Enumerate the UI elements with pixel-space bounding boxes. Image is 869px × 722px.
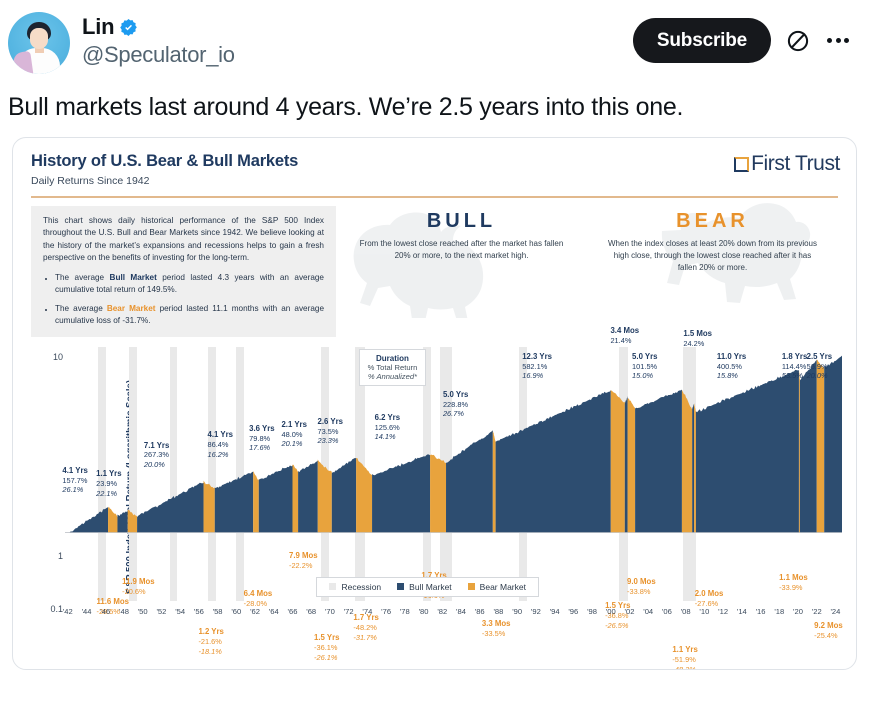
bull-market-segment [298,460,318,532]
bull-segment-label: 7.1 Yrs267.3%20.0% [144,441,169,470]
legend-item-recession: Recession [329,582,381,592]
bear-market-segment [253,471,259,532]
blurb-paragraph: This chart shows daily historical perfor… [43,215,324,265]
bull-segment-label: 4.1 Yrs157.7%26.1% [62,466,87,495]
bull-market-segment [137,482,203,531]
x-tick: '60 [231,607,241,616]
list-item: The average Bull Market period lasted 4.… [55,272,324,297]
bear-segment-label: 11.9 Mos-20.6% [122,577,155,596]
x-tick: '16 [756,607,766,616]
tweet-header: Lin @Speculator_io Subscribe [0,0,869,80]
legend-item-bear: Bear Market [468,582,526,592]
legend-label: Recession [341,582,381,592]
bear-definition: BEAR When the index closes at least 20% … [608,210,818,337]
x-tick: '52 [156,607,166,616]
x-tick: '84 [456,607,466,616]
bull-segment-label: 6.2 Yrs125.6%14.1% [375,413,400,442]
bull-segment-label: 5.0 Yrs101.5%15.0% [632,352,657,381]
bull-segment-label: 1.1 Yrs23.9%22.1% [96,469,121,498]
duration-key-line1: Duration [368,354,418,363]
y-tick: 0.1 [50,604,63,614]
account-handle[interactable]: @Speculator_io [82,42,235,68]
tweet-text: Bull markets last around 4 years. We’re … [0,80,869,137]
x-axis-ticks: '42'44'46'48'50'52'54'56'58'60'62'64'66'… [65,607,842,625]
y-tick: 1 [58,551,63,561]
bull-segment-label: 12.3 Yrs582.1%16.9% [522,352,552,381]
bull-segment-label: 4.1 Yrs86.4%16.2% [208,430,233,459]
bull-market-segment [259,465,293,532]
y-axis-ticks: 1010.1 [39,347,63,627]
x-tick: '82 [437,607,447,616]
description-blurb: This chart shows daily historical perfor… [31,206,336,337]
bull-market-segment [372,454,430,532]
brand-name: First Trust [751,152,840,176]
x-tick: '64 [269,607,279,616]
duration-key: Duration % Total Return % Annualized* [359,349,427,386]
bear-text: When the index closes at least 20% down … [608,238,818,274]
first-trust-square-icon [734,157,749,172]
x-tick: '48 [119,607,129,616]
y-tick: 10 [53,352,63,362]
bear-segment-label: 1.1 Yrs-51.9%-48.2% [672,645,697,670]
more-options-icon[interactable] [825,32,851,49]
avatar-face [30,28,48,49]
x-tick: '90 [512,607,522,616]
bull-segment-label: 3.6 Yrs79.8%17.6% [249,424,274,453]
bear-market-segment [611,390,625,532]
x-tick: '50 [138,607,148,616]
bull-market-segment [446,430,493,532]
legend-swatch-recession [329,583,336,590]
infographic-header: History of U.S. Bear & Bull Markets Dail… [13,138,856,198]
x-tick: '76 [381,607,391,616]
infographic-card[interactable]: History of U.S. Bear & Bull Markets Dail… [12,137,857,670]
x-tick: '12 [718,607,728,616]
bear-market-segment [799,370,800,532]
x-tick: '18 [774,607,784,616]
x-tick: '74 [362,607,372,616]
x-tick: '10 [699,607,709,616]
x-tick: '96 [568,607,578,616]
subscribe-button[interactable]: Subscribe [633,18,771,63]
bull-segment-label: 5.0 Yrs228.8%26.7% [443,390,468,419]
x-tick: '22 [812,607,822,616]
x-tick: '72 [344,607,354,616]
x-tick: '66 [288,607,298,616]
account-name-block: Lin @Speculator_io [82,10,235,68]
definitions-row: BULL From the lowest close reached after… [336,206,838,337]
x-tick: '94 [550,607,560,616]
bullet-pre: The average [55,273,110,282]
verified-badge-icon [119,18,138,37]
bull-segment-label: 2.1 Yrs48.0%20.1% [281,420,306,449]
header-actions: Subscribe [633,10,857,63]
bull-market-segment [70,507,108,532]
x-tick: '62 [250,607,260,616]
x-tick: '44 [82,607,92,616]
bull-market-segment [824,355,842,532]
x-tick: '68 [306,607,316,616]
bear-market-segment [108,506,117,531]
bull-market-segment [332,458,356,532]
bull-segment-label: 2.6 Yrs73.5%23.3% [318,417,343,446]
x-tick: '58 [213,607,223,616]
x-tick: '46 [100,607,110,616]
x-tick: '86 [475,607,485,616]
list-item: The average Bear Market period lasted 11… [55,303,324,328]
x-tick: '78 [400,607,410,616]
blurb-bullets: The average Bull Market period lasted 4.… [55,272,324,328]
bull-market-segment [635,389,682,532]
duration-key-line2: % Total Return [368,363,418,372]
x-tick: '24 [830,607,840,616]
chart: S&P 500 Index Total Return (Logarithmic … [13,347,856,627]
x-tick: '20 [793,607,803,616]
bull-market-segment [496,390,611,532]
first-trust-logo: First Trust [734,152,840,176]
bull-market-segment [696,369,799,531]
x-tick: '92 [531,607,541,616]
x-tick: '88 [493,607,503,616]
bear-segment-label: 1.2 Yrs-21.6%-18.1% [198,627,223,656]
description-row: This chart shows daily historical perfor… [13,198,856,337]
bull-market-segment [800,359,817,531]
grok-icon[interactable] [785,28,811,54]
bullet-pre: The average [55,304,107,313]
x-tick: '04 [643,607,653,616]
chart-legend: Recession Bull Market Bear Market [316,577,539,597]
legend-label: Bull Market [409,582,452,592]
bull-market-segment [117,510,127,531]
page-title: History of U.S. Bear & Bull Markets [31,152,838,171]
bear-market-term: Bear Market [107,304,156,313]
bear-segment-label: 7.9 Mos-22.2% [289,551,318,570]
bear-market-segment [430,454,446,532]
bear-segment-label: 1.1 Mos-33.9% [779,573,808,592]
bull-market-term: Bull Market [110,273,157,282]
x-tick: '98 [587,607,597,616]
bear-title: BEAR [608,210,818,233]
bear-market-segment [356,458,372,532]
bull-definition: BULL From the lowest close reached after… [357,210,567,337]
page-subtitle: Daily Returns Since 1942 [31,175,838,187]
bear-market-segment [292,464,298,532]
bull-segment-label: 1.8 Yrs114.4%53.5% [782,352,807,381]
bear-segment-label: 1.5 Yrs-36.1%-26.1% [314,633,339,662]
bear-market-segment [694,403,696,532]
bull-market-segment [215,471,253,532]
x-tick: '42 [63,607,73,616]
bear-market-segment [204,480,215,532]
bull-segment-label: 11.0 Yrs400.5%15.8% [717,352,746,381]
x-tick: '02 [625,607,635,616]
avatar[interactable] [8,12,70,74]
x-tick: '00 [606,607,616,616]
x-tick: '56 [194,607,204,616]
x-tick: '70 [325,607,335,616]
legend-label: Bear Market [480,582,526,592]
bull-market-segment [692,403,694,532]
bear-market-segment [628,398,635,532]
avatar-scarf [12,51,33,74]
bear-market-segment [493,431,496,532]
bear-market-segment [682,389,692,531]
bull-title: BULL [357,210,567,233]
bear-segment-label: 9.0 Mos-33.8% [627,577,656,596]
bear-market-segment [817,359,824,531]
bull-text: From the lowest close reached after the … [357,238,567,262]
bull-market-segment [625,395,628,531]
display-name[interactable]: Lin [82,14,114,40]
x-tick: '54 [175,607,185,616]
legend-item-bull: Bull Market [397,582,452,592]
duration-key-line3: % Annualized* [368,372,418,381]
market-series-svg [65,347,842,601]
bull-segment-label: 2.5 Yrs56.9%20.0% [807,352,832,381]
legend-swatch-bull [397,583,404,590]
bear-market-segment [128,509,137,532]
x-tick: '80 [419,607,429,616]
x-tick: '14 [737,607,747,616]
bear-market-segment [318,459,332,532]
x-tick: '08 [681,607,691,616]
plot-area: 4.1 Yrs157.7%26.1%11.6 Mos-28.5%1.1 Yrs2… [65,347,842,601]
legend-swatch-bear [468,583,475,590]
x-tick: '06 [662,607,672,616]
display-name-row: Lin [82,14,235,40]
